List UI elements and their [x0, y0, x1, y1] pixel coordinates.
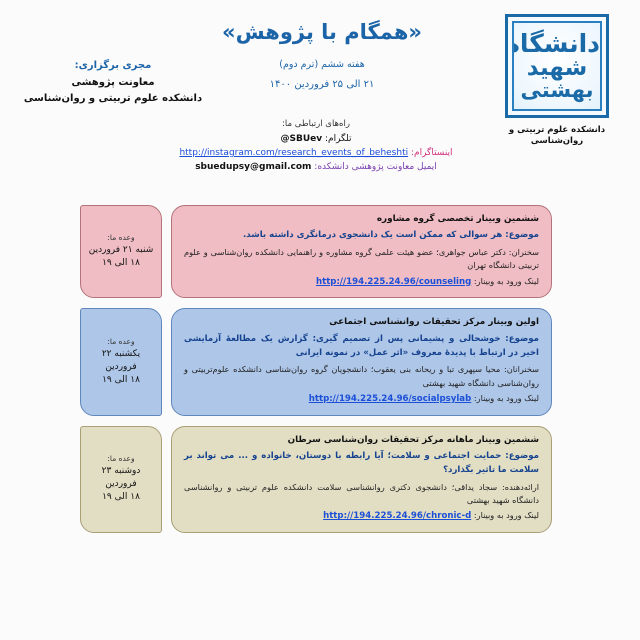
session-link-label: لینک ورود به وبینار:	[474, 393, 539, 403]
organizer-line-1: معاونت پژوهشی	[8, 75, 218, 92]
organizer-line-2: دانشکده علوم تربیتی و روان‌شناسی	[8, 91, 218, 108]
instagram-link[interactable]: http://instagram.com/research_events_of_…	[179, 146, 408, 160]
logo-calligraphy: دانشگاه شهید بهشتی	[514, 31, 600, 101]
session-date-badge: وعده ما: شنبه ۲۱ فروردین ۱۸ الی ۱۹	[80, 205, 162, 298]
session-topic: موضوع: حمایت اجتماعی و سلامت؛ آیا رابطه …	[184, 450, 539, 478]
logo-line-3: بهشتی	[514, 80, 600, 101]
email-address[interactable]: sbuedupsy@gmail.com	[195, 160, 311, 174]
page-title: «همگام با پژوهش»	[174, 18, 470, 46]
session-speaker: ارائه‌دهنده: سجاد یداقی؛ دانشجوی دکتری ر…	[184, 481, 539, 508]
session-speaker: سخنرانان: محیا سپهری تبا و ریحانه بنی یع…	[184, 363, 539, 390]
organizer-label: مجری برگزاری:	[8, 58, 218, 75]
poster-root: دانشگاه شهید بهشتی دانشکده علوم تربیتی و…	[0, 0, 640, 640]
session-card: ششمین وبینار ماهانه مرکز تحقیقات روان‌شن…	[171, 426, 552, 533]
session-link-label: لینک ورود به وبینار:	[474, 510, 539, 520]
session-title: اولین وبینار مرکز تحقیقات روانشناسی اجتم…	[184, 316, 539, 329]
page-subtitle: هفته ششم (ترم دوم)	[174, 57, 470, 72]
badge-day: شنبه ۲۱ فروردین	[89, 244, 154, 257]
session-webinar-link[interactable]: http://194.225.24.96/counseling	[316, 276, 471, 290]
session-row: ششمین وبینار تخصصی گروه مشاوره موضوع: هر…	[80, 205, 552, 298]
badge-label: وعده ما:	[107, 233, 134, 242]
session-card: اولین وبینار مرکز تحقیقات روانشناسی اجتم…	[171, 308, 552, 415]
session-date-badge: وعده ما: دوشنبه ۲۳ فروردین ۱۸ الی ۱۹	[80, 426, 162, 533]
organizer-block: مجری برگزاری: معاونت پژوهشی دانشکده علوم…	[8, 58, 218, 108]
badge-day: دوشنبه ۲۳ فروردین	[85, 465, 157, 491]
logo-line-2: شهید	[514, 56, 600, 79]
session-title: ششمین وبینار ماهانه مرکز تحقیقات روان‌شن…	[184, 434, 539, 447]
contact-row-email: ایمیل معاونت پژوهشی دانشکده: sbuedupsy@g…	[120, 160, 512, 174]
email-label: ایمیل معاونت پژوهشی دانشکده:	[314, 162, 437, 172]
session-row: اولین وبینار مرکز تحقیقات روانشناسی اجتم…	[80, 308, 552, 415]
badge-time: ۱۸ الی ۱۹	[102, 374, 140, 387]
session-speaker: سخنران: دکتر عباس جواهری؛ عضو هیئت علمی …	[184, 246, 539, 273]
session-topic: موضوع: هر سوالی که ممکن است یک دانشجوی د…	[184, 229, 539, 243]
telegram-handle[interactable]: @SBUev	[280, 132, 322, 146]
logo-line-1: دانشگاه	[514, 31, 600, 57]
session-webinar-link[interactable]: http://194.225.24.96/socialpsylab	[309, 393, 472, 407]
sessions-list: ششمین وبینار تخصصی گروه مشاوره موضوع: هر…	[0, 205, 640, 543]
session-date-badge: وعده ما: یکشنبه ۲۲ فروردین ۱۸ الی ۱۹	[80, 308, 162, 415]
badge-day: یکشنبه ۲۲ فروردین	[85, 348, 157, 374]
poster-header: دانشگاه شهید بهشتی دانشکده علوم تربیتی و…	[0, 0, 640, 196]
badge-time: ۱۸ الی ۱۹	[102, 257, 140, 270]
contact-row-instagram: اینستاگرام: http://instagram.com/researc…	[120, 146, 512, 160]
session-webinar-link[interactable]: http://194.225.24.96/chronic-d	[323, 510, 471, 524]
contact-block: راه‌های ارتباطی ما: تلگرام: @SBUev اینست…	[120, 118, 512, 175]
instagram-label: اینستاگرام:	[411, 148, 453, 158]
contact-heading: راه‌های ارتباطی ما:	[120, 118, 512, 132]
session-link-row: لینک ورود به وبینار: http://194.225.24.9…	[184, 275, 539, 290]
telegram-label: تلگرام:	[325, 134, 352, 144]
title-block: «همگام با پژوهش» هفته ششم (ترم دوم) ۲۱ ا…	[174, 18, 470, 93]
badge-time: ۱۸ الی ۱۹	[102, 491, 140, 504]
badge-label: وعده ما:	[107, 454, 134, 463]
session-link-row: لینک ورود به وبینار: http://194.225.24.9…	[184, 392, 539, 407]
session-row: ششمین وبینار ماهانه مرکز تحقیقات روان‌شن…	[80, 426, 552, 533]
contact-row-telegram: تلگرام: @SBUev	[120, 132, 512, 146]
session-link-row: لینک ورود به وبینار: http://194.225.24.9…	[184, 509, 539, 524]
session-card: ششمین وبینار تخصصی گروه مشاوره موضوع: هر…	[171, 205, 552, 298]
badge-label: وعده ما:	[107, 337, 134, 346]
logo-inner-frame: دانشگاه شهید بهشتی	[512, 21, 602, 111]
session-link-label: لینک ورود به وبینار:	[474, 276, 539, 286]
session-title: ششمین وبینار تخصصی گروه مشاوره	[184, 213, 539, 226]
page-date-range: ۲۱ الی ۲۵ فروردین ۱۴۰۰	[174, 77, 470, 93]
university-logo-icon: دانشگاه شهید بهشتی	[505, 14, 609, 118]
session-topic: موضوع: خوشحالی و پشیمانی پس از تصمیم گیر…	[184, 333, 539, 361]
